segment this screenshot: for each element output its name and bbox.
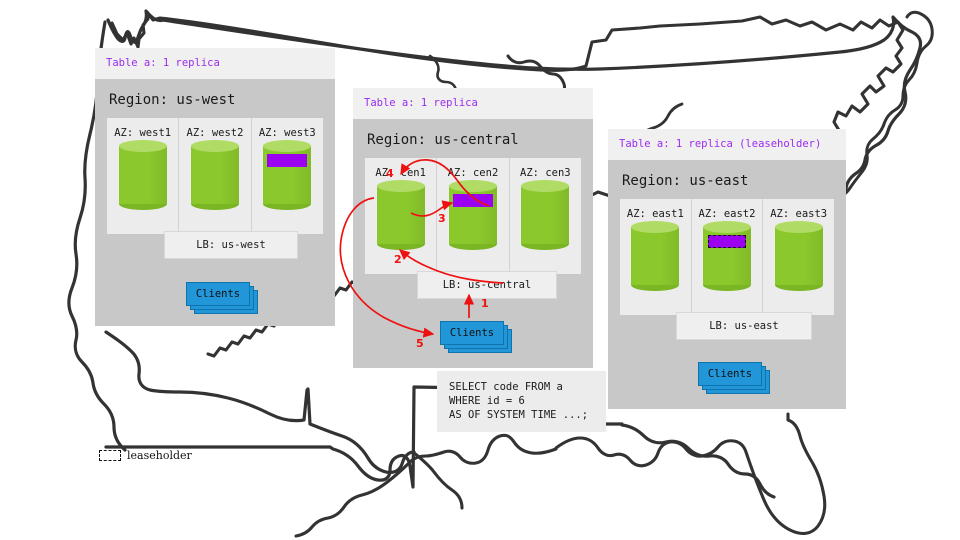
az-label-cen1: AZ: cen1 [365,167,436,179]
az-label-cen2: AZ: cen2 [437,167,508,179]
az-cen3[interactable]: AZ: cen3 [510,158,581,274]
node-cylinder-east2[interactable] [703,227,751,285]
load-balancer-us-east[interactable]: LB: us-east [676,312,812,340]
clients-us-east[interactable]: Clients [698,362,762,386]
region-header-us-east: Table a: 1 replica (leaseholder) [608,129,846,160]
cylinder-top [191,140,239,152]
cylinder-body [119,146,167,204]
region-title-us-central: Region: us-central [353,119,593,158]
cylinder-body [377,186,425,244]
cylinder-top [775,221,823,233]
cylinder-shading [775,227,823,285]
region-header-us-central: Table a: 1 replica [353,88,593,119]
node-cylinder-cen2[interactable] [449,186,497,244]
step-number-1: 1 [481,297,489,310]
az-west3[interactable]: AZ: west3 [252,118,323,234]
clients-label-us-west[interactable]: Clients [186,282,250,306]
cylinder-top [703,221,751,233]
cylinder-shading [191,146,239,204]
node-cylinder-west2[interactable] [191,146,239,204]
replica-marker-cen2 [453,194,493,207]
az-label-cen3: AZ: cen3 [510,167,581,179]
leaseholder-swatch-icon [99,450,121,461]
cylinder-top [449,180,497,192]
clients-us-west[interactable]: Clients [186,282,250,306]
step-number-3: 3 [438,212,446,225]
az-strip-us-west: AZ: west1 AZ: west2 AZ: west3 [107,118,323,234]
region-title-us-west: Region: us-west [95,79,335,118]
region-header-us-west: Table a: 1 replica [95,48,335,79]
node-cylinder-cen3[interactable] [521,186,569,244]
az-strip-us-east: AZ: east1 AZ: east2 AZ: east3 [620,199,834,315]
clients-label-us-east[interactable]: Clients [698,362,762,386]
cylinder-shading [119,146,167,204]
replica-marker-west3 [267,154,307,167]
load-balancer-us-central[interactable]: LB: us-central [417,271,557,299]
cylinder-body [521,186,569,244]
az-label-east2: AZ: east2 [692,208,763,220]
sql-query-box: SELECT code FROM a WHERE id = 6 AS OF SY… [437,371,606,432]
cylinder-body [191,146,239,204]
step-number-5: 5 [416,337,424,350]
node-cylinder-west3[interactable] [263,146,311,204]
clients-us-central[interactable]: Clients [440,321,504,345]
replica-marker-east2-leaseholder [708,235,746,248]
cylinder-body [775,227,823,285]
az-cen2[interactable]: AZ: cen2 [437,158,509,274]
node-cylinder-east3[interactable] [775,227,823,285]
az-label-east1: AZ: east1 [620,208,691,220]
step-number-4: 4 [386,167,394,180]
az-west1[interactable]: AZ: west1 [107,118,179,234]
clients-label-us-central[interactable]: Clients [440,321,504,345]
az-east1[interactable]: AZ: east1 [620,199,692,315]
cylinder-top [119,140,167,152]
legend-leaseholder: leaseholder [99,449,192,462]
cylinder-shading [631,227,679,285]
az-label-west2: AZ: west2 [179,127,250,139]
cylinder-top [263,140,311,152]
az-east3[interactable]: AZ: east3 [763,199,834,315]
az-label-west1: AZ: west1 [107,127,178,139]
legend-label: leaseholder [127,449,192,462]
cylinder-shading [377,186,425,244]
diagram-canvas: Table a: 1 replica Region: us-west AZ: w… [0,0,960,540]
node-cylinder-east1[interactable] [631,227,679,285]
cylinder-shading [521,186,569,244]
cylinder-body [631,227,679,285]
region-title-us-east: Region: us-east [608,160,846,199]
az-west2[interactable]: AZ: west2 [179,118,251,234]
load-balancer-us-west[interactable]: LB: us-west [164,231,298,259]
node-cylinder-west1[interactable] [119,146,167,204]
cylinder-top [377,180,425,192]
cylinder-top [631,221,679,233]
node-cylinder-cen1[interactable] [377,186,425,244]
step-number-2: 2 [394,253,402,266]
az-east2[interactable]: AZ: east2 [692,199,764,315]
cylinder-top [521,180,569,192]
az-label-east3: AZ: east3 [763,208,834,220]
az-label-west3: AZ: west3 [252,127,323,139]
